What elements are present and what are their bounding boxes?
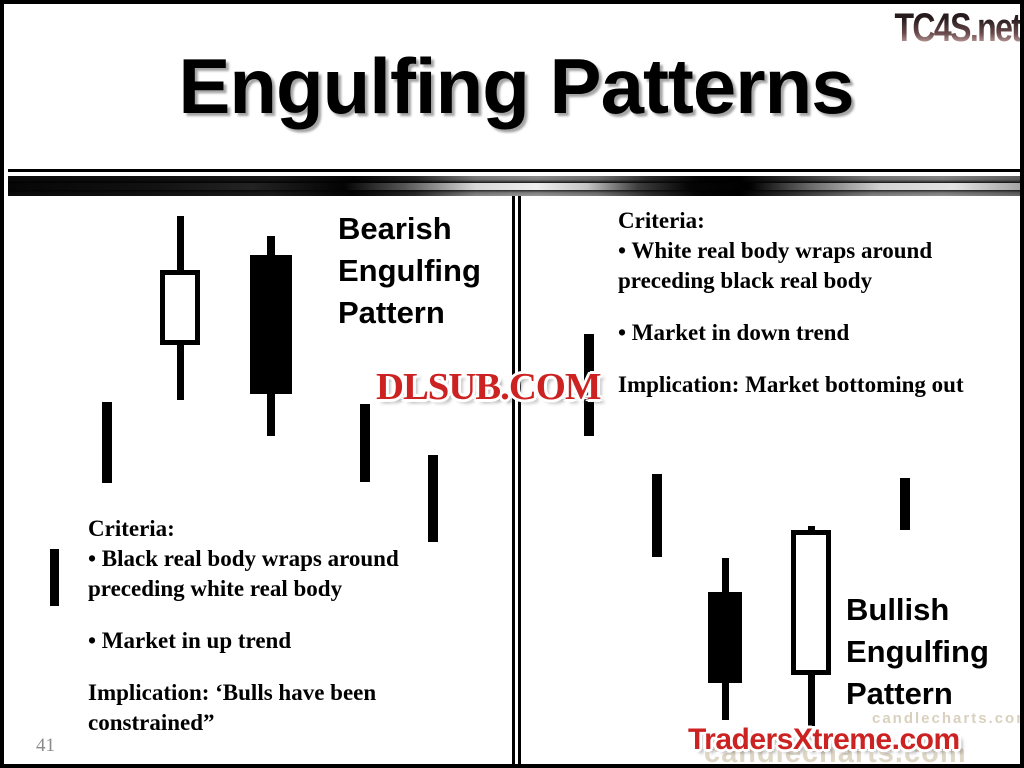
metallic-divider-bar bbox=[8, 176, 1024, 196]
bearish-pattern-label: Bearish Engulfing Pattern bbox=[338, 208, 481, 334]
bullish-pattern-label: Bullish Engulfing Pattern bbox=[846, 589, 989, 715]
left-white-candle-body bbox=[160, 270, 200, 345]
title-block: Engulfing Patterns bbox=[8, 8, 1024, 172]
panel-divider bbox=[512, 196, 521, 764]
slide-canvas: Engulfing Patterns TC4S.net Bearish bbox=[0, 0, 1024, 768]
left-criteria-implication-cont: constrained” bbox=[88, 708, 488, 738]
slide-body: Bearish Engulfing Pattern Criteria: • Bl… bbox=[8, 196, 1024, 764]
left-bar-2 bbox=[102, 402, 112, 483]
left-criteria-block: Criteria: • Black real body wraps around… bbox=[88, 514, 488, 738]
left-bar-1 bbox=[50, 549, 59, 606]
right-criteria-heading: Criteria: bbox=[618, 206, 1024, 236]
right-criteria-implication: Implication: Market bottoming out bbox=[618, 370, 1024, 400]
right-criteria-gap-2 bbox=[618, 348, 1024, 370]
left-black-candle-body bbox=[250, 255, 292, 394]
right-criteria-gap-1 bbox=[618, 296, 1024, 318]
left-criteria-implication: Implication: ‘Bulls have been bbox=[88, 678, 488, 708]
watermark-tc4s: TC4S.net bbox=[894, 6, 1020, 50]
right-bar-3 bbox=[900, 478, 910, 530]
page-number: 41 bbox=[36, 735, 55, 757]
right-criteria-bullet-1: • White real body wraps around bbox=[618, 236, 1024, 266]
left-criteria-gap-2 bbox=[88, 656, 488, 678]
watermark-tradersxtreme: TradersXtreme.com bbox=[688, 723, 960, 757]
left-criteria-bullet-1-cont: preceding white real body bbox=[88, 574, 488, 604]
right-bar-2 bbox=[652, 474, 662, 557]
left-criteria-bullet-1: • Black real body wraps around bbox=[88, 544, 488, 574]
left-criteria-gap-1 bbox=[88, 604, 488, 626]
watermark-dlsub: DLSUB.COM bbox=[376, 365, 600, 409]
left-bar-3 bbox=[360, 404, 370, 482]
right-black-candle-body bbox=[708, 592, 742, 683]
left-criteria-heading: Criteria: bbox=[88, 514, 488, 544]
left-criteria-bullet-2: • Market in up trend bbox=[88, 626, 488, 656]
right-criteria-bullet-2: • Market in down trend bbox=[618, 318, 1024, 348]
right-criteria-block: Criteria: • White real body wraps around… bbox=[618, 206, 1024, 400]
right-white-candle-body bbox=[791, 530, 831, 675]
page-title: Engulfing Patterns bbox=[8, 42, 1024, 130]
right-criteria-bullet-1-cont: preceding black real body bbox=[618, 266, 1024, 296]
